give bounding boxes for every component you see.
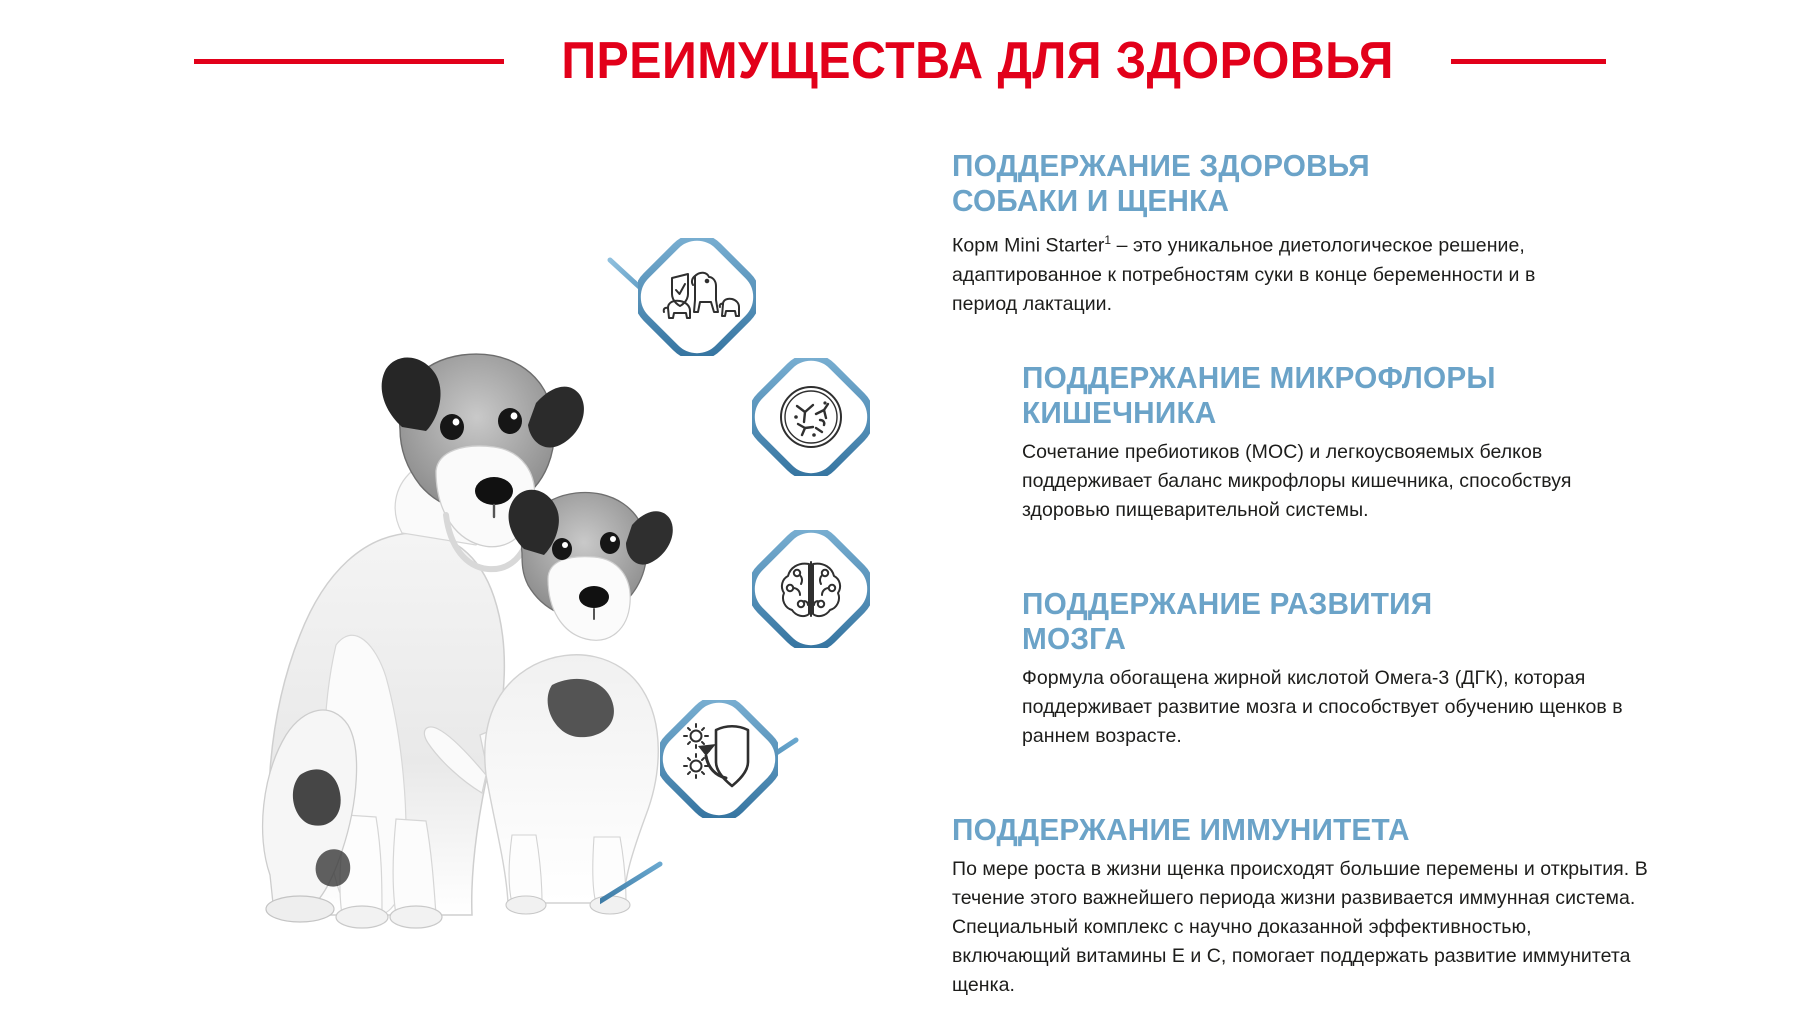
benefit-heading-4: ПОДДЕРЖАНИЕ ИММУНИТЕТА	[952, 812, 1624, 847]
benefit-heading-3-line-2: МОЗГА	[1022, 621, 1126, 656]
page-title-row: ПРЕИМУЩЕСТВА ДЛЯ ЗДОРОВЬЯ	[0, 26, 1800, 96]
title-rule-right	[1451, 59, 1606, 64]
benefit-heading-3-line-1: ПОДДЕРЖАНИЕ РАЗВИТИЯ	[1022, 586, 1432, 621]
benefit-heading-2-line-1: ПОДДЕРЖАНИЕ МИКРОФЛОРЫ	[1022, 360, 1496, 395]
gut-microflora-icon	[752, 358, 870, 476]
benefit-body-4: По мере роста в жизни щенка происходят б…	[952, 855, 1652, 1000]
benefit-heading-1-line-1: ПОДДЕРЖАНИЕ ЗДОРОВЬЯ	[952, 148, 1370, 183]
benefit-block-2: ПОДДЕРЖАНИЕ МИКРОФЛОРЫ КИШЕЧНИКА Сочетан…	[1022, 360, 1662, 525]
benefit-heading-2-line-2: КИШЕЧНИКА	[1022, 395, 1216, 430]
benefit-heading-3: ПОДДЕРЖАНИЕ РАЗВИТИЯ МОЗГА	[1022, 586, 1636, 656]
benefit-body-2: Сочетание пребиотиков (МОС) и легкоусвоя…	[1022, 438, 1662, 525]
benefit-body-3: Формула обогащена жирной кислотой Омега-…	[1022, 664, 1662, 751]
benefit-block-4: ПОДДЕРЖАНИЕ ИММУНИТЕТА По мере роста в ж…	[952, 812, 1652, 1000]
benefit-block-3: ПОДДЕРЖАНИЕ РАЗВИТИЯ МОЗГА Формула обога…	[1022, 586, 1662, 751]
benefit-body-1-pre: Корм Mini Starter	[952, 235, 1104, 257]
brain-development-icon	[752, 530, 870, 648]
benefit-heading-4-line-1: ПОДДЕРЖАНИЕ ИММУНИТЕТА	[952, 812, 1410, 847]
page-title: ПРЕИМУЩЕСТВА ДЛЯ ЗДОРОВЬЯ	[561, 31, 1393, 91]
infographic-page: ПРЕИМУЩЕСТВА ДЛЯ ЗДОРОВЬЯ	[0, 0, 1800, 1030]
title-rule-left	[194, 59, 504, 64]
immunity-shield-icon	[660, 700, 778, 818]
benefit-heading-1-line-2: СОБАКИ И ЩЕНКА	[952, 183, 1229, 218]
benefit-heading-1: ПОДДЕРЖАНИЕ ЗДОРОВЬЯ СОБАКИ И ЩЕНКА	[952, 148, 1547, 218]
dog-and-puppy-photo	[150, 215, 710, 945]
benefit-heading-2: ПОДДЕРЖАНИЕ МИКРОФЛОРЫ КИШЕЧНИКА	[1022, 360, 1636, 430]
benefit-block-1: ПОДДЕРЖАНИЕ ЗДОРОВЬЯ СОБАКИ И ЩЕНКА Корм…	[952, 148, 1572, 319]
shield-dog-puppies-icon	[638, 238, 756, 356]
benefit-body-1: Корм Mini Starter1 – это уникальное диет…	[952, 226, 1572, 319]
